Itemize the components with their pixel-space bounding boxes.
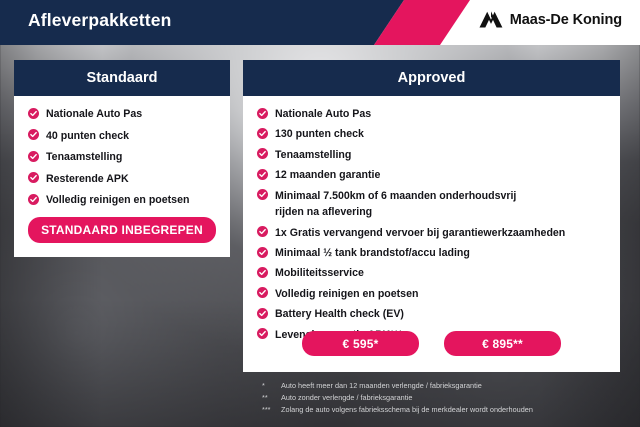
check-circle-icon — [28, 108, 39, 119]
footnote-text: Auto heeft meer dan 12 maanden verlengde… — [281, 380, 628, 392]
list-item: Battery Health check (EV) — [257, 306, 608, 322]
footnote-3: *** Zolang de auto volgens fabrieksschem… — [262, 404, 628, 416]
feature-text: Minimaal 7.500km of 6 maanden onderhouds… — [275, 190, 516, 202]
check-circle-icon — [257, 108, 268, 119]
feature-text: Nationale Auto Pas — [275, 106, 371, 122]
price-button-895[interactable]: € 895** — [444, 331, 561, 356]
brand-name: Maas-De Koning — [510, 12, 622, 28]
check-circle-icon — [28, 172, 39, 183]
check-circle-icon — [28, 129, 39, 140]
footnotes: * Auto heeft meer dan 12 maanden verleng… — [262, 380, 628, 415]
list-item: Nationale Auto Pas — [257, 106, 608, 122]
feature-text: Volledig reinigen en poetsen — [275, 286, 418, 302]
price-button-595[interactable]: € 595* — [302, 331, 419, 356]
footnote-marker: *** — [262, 404, 281, 416]
feature-text: Nationale Auto Pas — [46, 106, 142, 122]
check-circle-icon — [257, 308, 268, 319]
feature-text: 12 maanden garantie — [275, 167, 380, 183]
feature-list-standaard: Nationale Auto Pas 40 punten check Tenaa… — [14, 106, 230, 208]
list-item: 1x Gratis vervangend vervoer bij garanti… — [257, 225, 608, 241]
feature-text: 1x Gratis vervangend vervoer bij garanti… — [275, 225, 565, 241]
list-item: 12 maanden garantie — [257, 167, 608, 183]
footnote-text: Auto zonder verlengde / fabrieksgarantie — [281, 392, 628, 404]
check-circle-icon — [257, 226, 268, 237]
feature-text: 40 punten check — [46, 128, 129, 144]
check-circle-icon — [257, 128, 268, 139]
maas-de-koning-m-logo-icon — [479, 11, 503, 28]
package-card-standaard: Standaard Nationale Auto Pas 40 punten c… — [14, 60, 230, 257]
package-card-approved: Approved Nationale Auto Pas 130 punten c… — [243, 60, 620, 372]
check-circle-icon — [257, 247, 268, 258]
price-button-row: € 595* € 895** — [243, 331, 620, 356]
feature-text: Resterende APK — [46, 171, 129, 187]
header-bar: Afleverpakketten Maas-De Koning — [0, 0, 640, 45]
page-root: Afleverpakketten Maas-De Koning Standaar… — [0, 0, 640, 427]
feature-text: Battery Health check (EV) — [275, 306, 404, 322]
check-circle-icon — [257, 169, 268, 180]
check-circle-icon — [257, 148, 268, 159]
list-item: Minimaal ½ tank brandstof/accu lading — [257, 245, 608, 261]
list-item: Nationale Auto Pas — [28, 106, 220, 122]
card-title-standaard: Standaard — [14, 60, 230, 96]
check-circle-icon — [257, 267, 268, 278]
list-item: 130 punten check — [257, 126, 608, 142]
check-circle-icon — [28, 194, 39, 205]
card-title-approved: Approved — [243, 60, 620, 96]
footnote-marker: * — [262, 380, 281, 392]
standaard-inbegrepen-button[interactable]: STANDAARD INBEGREPEN — [28, 217, 216, 243]
page-title: Afleverpakketten — [28, 10, 171, 31]
feature-text-continuation: rijden na aflevering — [275, 204, 516, 220]
feature-text: Tenaamstelling — [275, 147, 351, 163]
list-item: 40 punten check — [28, 128, 220, 144]
list-item: Volledig reinigen en poetsen — [257, 286, 608, 302]
feature-text: Tenaamstelling — [46, 149, 122, 165]
feature-list-approved: Nationale Auto Pas 130 punten check Tena… — [243, 106, 620, 343]
check-circle-icon — [257, 287, 268, 298]
list-item: Mobiliteitsservice — [257, 265, 608, 281]
feature-text-wrapper: Minimaal 7.500km of 6 maanden onderhouds… — [275, 188, 516, 220]
list-item: Volledig reinigen en poetsen — [28, 192, 220, 208]
brand-logo: Maas-De Koning — [479, 11, 622, 28]
check-circle-icon — [257, 189, 268, 200]
list-item: Resterende APK — [28, 171, 220, 187]
list-item: Tenaamstelling — [257, 147, 608, 163]
feature-text: 130 punten check — [275, 126, 364, 142]
list-item: Tenaamstelling — [28, 149, 220, 165]
footnote-1: * Auto heeft meer dan 12 maanden verleng… — [262, 380, 628, 392]
card-body-approved: Nationale Auto Pas 130 punten check Tena… — [243, 96, 620, 343]
check-circle-icon — [28, 151, 39, 162]
feature-text: Minimaal ½ tank brandstof/accu lading — [275, 245, 470, 261]
list-item: Minimaal 7.500km of 6 maanden onderhouds… — [257, 188, 608, 220]
footnote-2: ** Auto zonder verlengde / fabrieksgaran… — [262, 392, 628, 404]
card-body-standaard: Nationale Auto Pas 40 punten check Tenaa… — [14, 96, 230, 208]
footnote-marker: ** — [262, 392, 281, 404]
feature-text: Mobiliteitsservice — [275, 265, 364, 281]
footnote-text: Zolang de auto volgens fabrieksschema bi… — [281, 404, 628, 416]
feature-text: Volledig reinigen en poetsen — [46, 192, 189, 208]
